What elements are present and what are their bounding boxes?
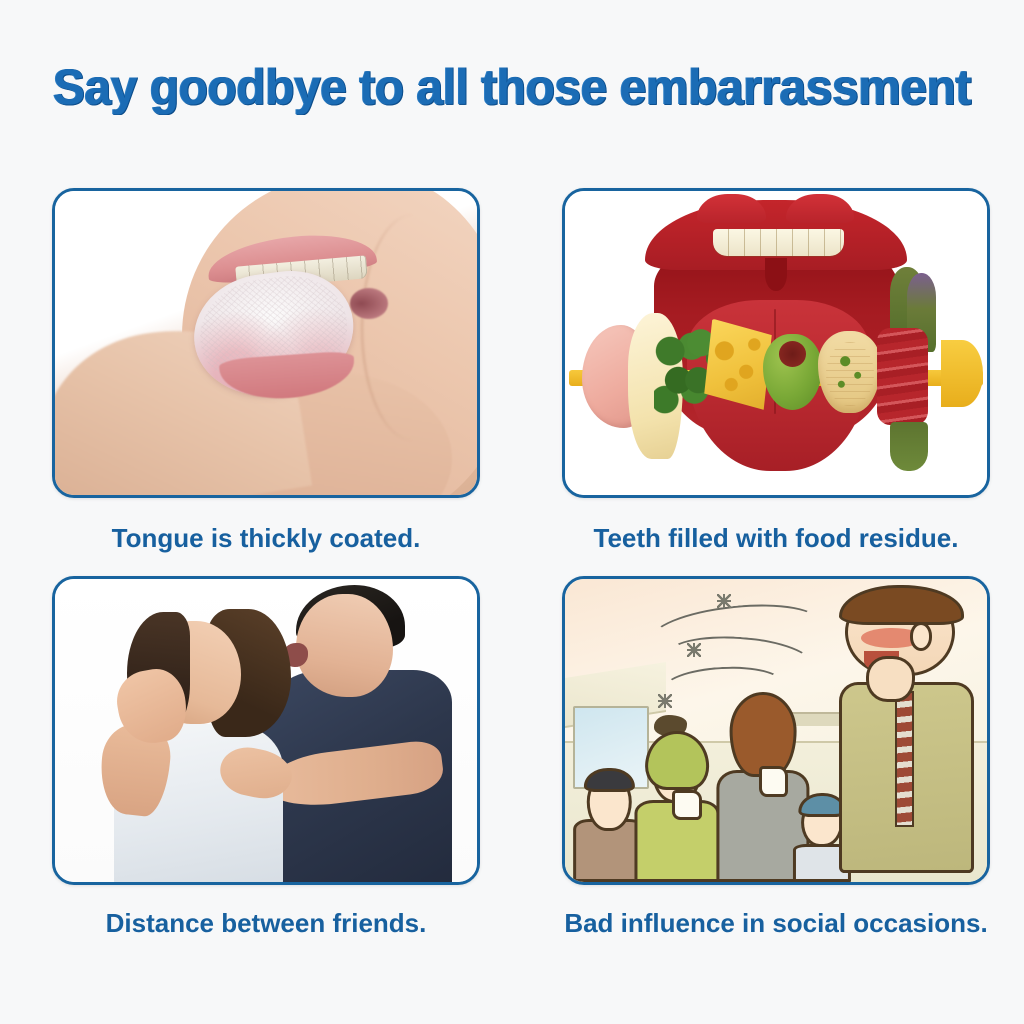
card-image-frame-food-residue	[562, 188, 990, 498]
food-cheese	[704, 319, 772, 410]
uvula	[765, 258, 786, 291]
card-row-bottom: Distance between friends.	[52, 576, 990, 939]
card-social-occasions: Bad influence in social occasions.	[562, 576, 990, 939]
card-caption-friend-distance: Distance between friends.	[52, 907, 480, 939]
stink-sparkle-2	[687, 643, 701, 657]
benefit-card-grid: Tongue is thickly coated.	[52, 188, 990, 939]
bad-breath-man-tie	[895, 691, 914, 828]
card-caption-food-residue: Teeth filled with food residue.	[562, 522, 990, 554]
coworker-hair	[730, 692, 797, 777]
couple-photo	[55, 579, 477, 882]
stink-sparkle-3	[658, 694, 672, 708]
teeth-illustration	[713, 229, 844, 256]
card-friend-distance: Distance between friends.	[52, 576, 480, 939]
jawline-shading	[361, 215, 464, 440]
infographic-page: Say goodbye to all those embarrassment	[0, 0, 1024, 1024]
card-caption-coated-tongue: Tongue is thickly coated.	[52, 522, 480, 554]
bad-breath-man-hair	[839, 585, 963, 625]
coworker-tissue	[759, 766, 787, 797]
coworker-tissue	[672, 790, 702, 819]
card-coated-tongue: Tongue is thickly coated.	[52, 188, 480, 554]
coworker-green-hair	[633, 718, 722, 882]
man-head	[296, 594, 393, 697]
mouth-corner-shadow	[350, 288, 388, 318]
card-image-frame-friend-distance	[52, 576, 480, 885]
stink-sparkle-1	[717, 594, 731, 608]
food-bacon-wrap	[877, 328, 928, 425]
coworker-hair	[645, 731, 709, 790]
bad-breath-man-hand	[866, 656, 915, 702]
bad-breath-man	[839, 588, 974, 873]
card-caption-social-occasions: Bad influence in social occasions.	[562, 907, 990, 939]
card-image-frame-coated-tongue	[52, 188, 480, 498]
coated-tongue-photo	[55, 191, 477, 495]
card-row-top: Tongue is thickly coated.	[52, 188, 990, 554]
bad-breath-man-nose	[910, 622, 933, 650]
mouth-food-illustration	[565, 191, 987, 495]
page-title: Say goodbye to all those embarrassment	[20, 58, 1003, 116]
card-image-frame-social-occasions	[562, 576, 990, 885]
card-food-residue: Teeth filled with food residue.	[562, 188, 990, 554]
skewer-tip	[941, 340, 983, 407]
coworker-hair	[584, 768, 634, 792]
food-asparagus-bottom	[890, 422, 928, 471]
office-cartoon	[565, 579, 987, 882]
